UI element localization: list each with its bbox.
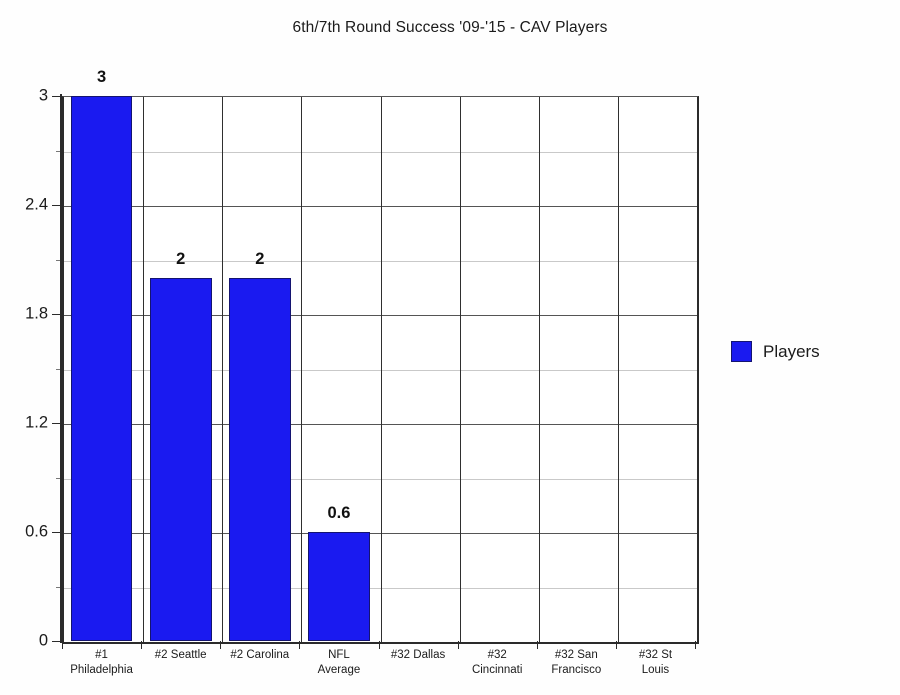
x-axis-tick-labels: #1Philadelphia#2 Seattle#2 CarolinaNFLAv… [62,645,695,691]
x-tick-mark-4 [379,641,380,649]
y-axis-tick-marks [0,96,62,641]
bar-value-label: 3 [62,68,141,87]
x-cat-label-line: Louis [616,663,695,678]
x-tick-mark-6 [537,641,538,649]
x-cat-label-line: Francisco [537,663,616,678]
gridline-vertical-7 [618,97,619,642]
x-cat-label-5: #32Cincinnati [458,645,537,677]
x-tick-mark-7 [616,641,617,649]
x-cat-label-line: #32 Dallas [379,648,458,663]
x-tick-mark-0 [62,641,63,649]
x-cat-label-3: NFLAverage [299,645,378,677]
x-cat-label-line: #32 [458,648,537,663]
chart-screenshot: 6th/7th Round Success '09-'15 - CAV Play… [0,0,900,695]
gridline-vertical-2 [222,97,223,642]
x-cat-label-1: #2 Seattle [141,645,220,663]
x-cat-label-line: Average [299,663,378,678]
x-tick-mark-2 [220,641,221,649]
x-cat-label-line: #1 [62,648,141,663]
gridline-vertical-4 [381,97,382,642]
plot-area [62,96,699,644]
legend-label-players: Players [763,342,820,362]
x-tick-mark-1 [141,641,142,649]
x-cat-label-line: #2 Carolina [220,648,299,663]
gridline-vertical-6 [539,97,540,642]
x-tick-mark-3 [299,641,300,649]
gridline-vertical-3 [301,97,302,642]
x-cat-label-0: #1Philadelphia [62,645,141,677]
legend-color-swatch-players [731,341,752,362]
x-tick-mark-5 [458,641,459,649]
x-cat-label-line: Cincinnati [458,663,537,678]
x-cat-label-4: #32 Dallas [379,645,458,663]
x-cat-label-6: #32 SanFrancisco [537,645,616,677]
x-cat-label-line: #32 San [537,648,616,663]
chart-title: 6th/7th Round Success '09-'15 - CAV Play… [0,19,900,37]
x-cat-label-2: #2 Carolina [220,645,299,663]
x-cat-label-line: #2 Seattle [141,648,220,663]
x-cat-label-line: Philadelphia [62,663,141,678]
x-tick-mark-8 [695,641,696,649]
x-cat-label-line: NFL [299,648,378,663]
legend: Players [731,341,820,362]
x-cat-label-line: #32 St [616,648,695,663]
x-cat-label-7: #32 StLouis [616,645,695,677]
gridline-vertical-1 [143,97,144,642]
gridline-vertical-5 [460,97,461,642]
